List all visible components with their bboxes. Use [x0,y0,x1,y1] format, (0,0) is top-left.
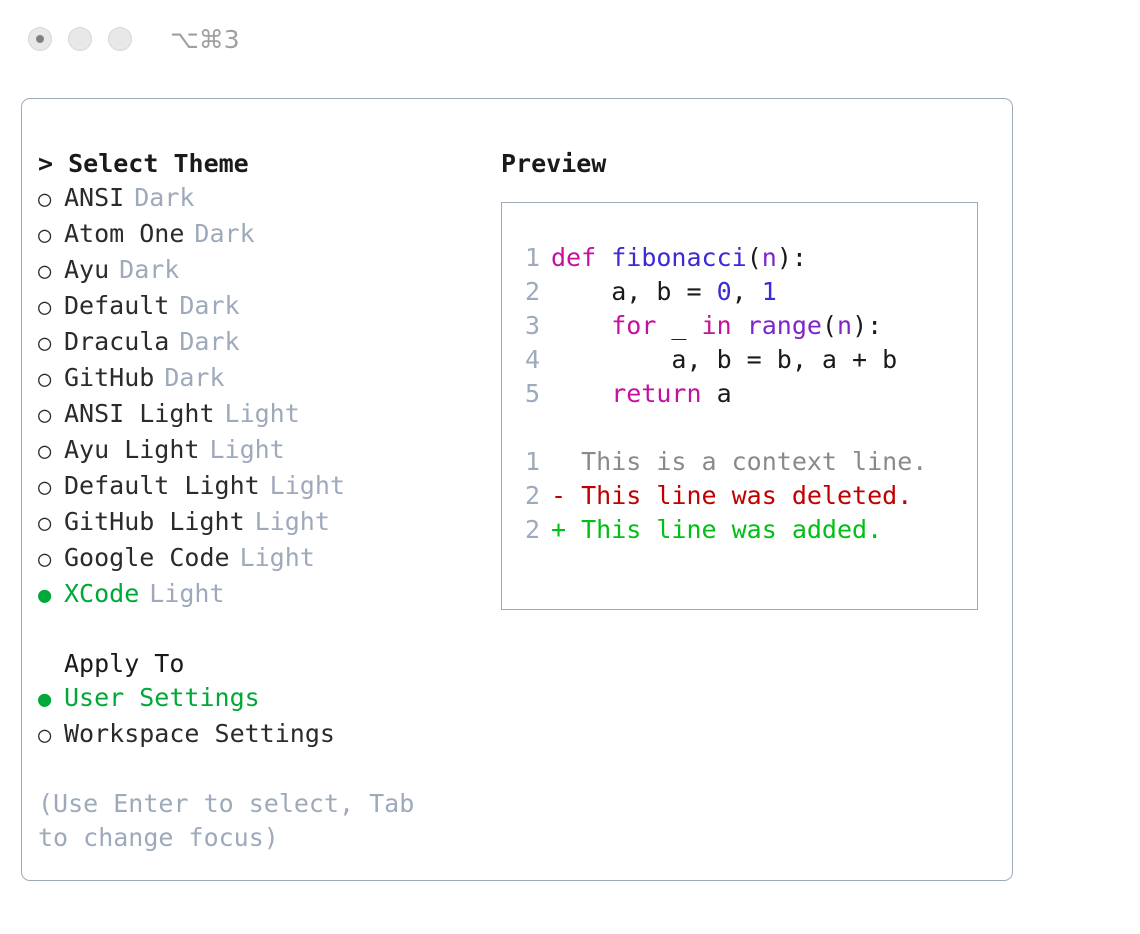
code-token-kw: in [702,311,732,340]
theme-option-badge: Light [209,433,284,467]
radio-unselected-icon: ○ [38,219,64,253]
theme-option-label: Default [64,289,169,323]
theme-option-badge: Light [255,505,330,539]
code-sample: 1def fibonacci(n):2 a, b = 0, 13 for _ i… [516,241,977,411]
radio-unselected-icon: ○ [38,719,64,753]
apply-to-option-user-settings[interactable]: ●User Settings [38,681,498,717]
code-token-param: n [837,311,852,340]
theme-option-label: ANSI Light [64,397,215,431]
traffic-light-3[interactable] [108,27,132,51]
radio-unselected-icon: ○ [38,471,64,505]
theme-option-atom-one[interactable]: ○Atom OneDark [38,217,498,253]
diff-text: This line was deleted. [566,481,912,510]
code-diff-separator [516,411,977,445]
code-line: 3 for _ in range(n): [516,309,977,343]
code-line-number: 4 [516,343,540,377]
preview-heading: Preview [501,147,991,181]
theme-option-label: Atom One [64,217,184,251]
theme-option-badge: Light [240,541,315,575]
code-token-plain [551,379,611,408]
code-token-kw: return [611,379,701,408]
code-token-plain: a [702,379,732,408]
code-token-kw: for [611,311,656,340]
theme-option-badge: Dark [119,253,179,287]
theme-option-ansi[interactable]: ○ANSIDark [38,181,498,217]
traffic-light-active[interactable] [28,27,52,51]
app-window: ⌥⌘3 > Select Theme ○ANSIDark○Atom OneDar… [0,0,1140,934]
code-token-plain [732,311,747,340]
code-token-plain [551,311,611,340]
theme-option-default[interactable]: ○DefaultDark [38,289,498,325]
code-token-plain: a, b = [551,277,717,306]
theme-option-badge: Dark [164,361,224,395]
code-token-num: 0 [717,277,732,306]
theme-option-label: ANSI [64,181,124,215]
radio-unselected-icon: ○ [38,435,64,469]
code-line: 5 return a [516,377,977,411]
code-token-builtin: range [747,311,822,340]
apply-to-heading: Apply To [38,647,498,681]
code-line: 2 a, b = 0, 1 [516,275,977,309]
code-token-fn: fibonacci [611,243,746,272]
diff-line-number: 2 [516,513,540,547]
code-line-number: 1 [516,241,540,275]
code-token-plain: ( [747,243,762,272]
list-spacer [38,613,498,647]
theme-option-label: Ayu [64,253,109,287]
code-token-plain: a, b = b, a + b [551,345,897,374]
apply-to-option-label: User Settings [64,681,260,715]
code-line-number: 2 [516,275,540,309]
theme-option-badge: Dark [134,181,194,215]
radio-selected-icon: ● [38,683,64,717]
titlebar: ⌥⌘3 [0,0,1140,78]
traffic-light-inner-dot [36,35,44,43]
code-token-param: n [762,243,777,272]
keyboard-shortcut-label: ⌥⌘3 [170,25,240,54]
theme-list: ○ANSIDark○Atom OneDark○AyuDark○DefaultDa… [38,181,498,613]
theme-option-default-light[interactable]: ○Default LightLight [38,469,498,505]
diff-line-number: 1 [516,445,540,479]
main-panel: > Select Theme ○ANSIDark○Atom OneDark○Ay… [21,98,1013,881]
code-token-plain: ( [822,311,837,340]
code-line: 1def fibonacci(n): [516,241,977,275]
diff-text: This is a context line. [566,447,927,476]
theme-option-badge: Dark [179,289,239,323]
theme-option-badge: Light [149,577,224,611]
radio-unselected-icon: ○ [38,291,64,325]
theme-option-badge: Dark [179,325,239,359]
code-token-plain: , [732,277,762,306]
theme-option-github[interactable]: ○GitHubDark [38,361,498,397]
radio-unselected-icon: ○ [38,183,64,217]
traffic-light-2[interactable] [68,27,92,51]
apply-to-list: ●User Settings○Workspace Settings [38,681,498,753]
theme-option-badge: Light [225,397,300,431]
code-token-num: 1 [762,277,777,306]
apply-to-option-workspace-settings[interactable]: ○Workspace Settings [38,717,498,753]
diff-line-add: 2+ This line was added. [516,513,977,547]
code-token-plain: ): [852,311,882,340]
code-line: 4 a, b = b, a + b [516,343,977,377]
diff-sign: - [551,481,566,510]
select-theme-heading: > Select Theme [38,147,498,181]
theme-option-label: Dracula [64,325,169,359]
theme-option-label: GitHub [64,361,154,395]
radio-unselected-icon: ○ [38,363,64,397]
radio-unselected-icon: ○ [38,255,64,289]
diff-text: This line was added. [566,515,882,544]
theme-option-badge: Light [270,469,345,503]
theme-option-label: XCode [64,577,139,611]
radio-unselected-icon: ○ [38,543,64,577]
radio-unselected-icon: ○ [38,399,64,433]
diff-line-del: 2- This line was deleted. [516,479,977,513]
radio-unselected-icon: ○ [38,327,64,361]
apply-to-option-label: Workspace Settings [64,717,335,751]
preview-box: 1def fibonacci(n):2 a, b = 0, 13 for _ i… [501,202,978,610]
diff-sample: 1 This is a context line.2- This line wa… [516,445,977,547]
code-token-plain: ): [777,243,807,272]
preview-column: Preview 1def fibonacci(n):2 a, b = 0, 13… [501,147,991,610]
theme-option-badge: Dark [194,217,254,251]
diff-line-number: 2 [516,479,540,513]
diff-sign: + [551,515,566,544]
theme-option-dracula[interactable]: ○DraculaDark [38,325,498,361]
radio-unselected-icon: ○ [38,507,64,541]
code-token-plain: _ [656,311,701,340]
theme-option-github-light[interactable]: ○GitHub LightLight [38,505,498,541]
diff-sign [551,447,566,476]
keyboard-hint-text: (Use Enter to select, Tab to change focu… [38,787,458,855]
radio-selected-icon: ● [38,579,64,613]
code-token-kw: def [551,243,611,272]
code-line-number: 5 [516,377,540,411]
theme-option-ayu-light[interactable]: ○Ayu LightLight [38,433,498,469]
theme-option-ayu[interactable]: ○AyuDark [38,253,498,289]
theme-option-xcode[interactable]: ●XCodeLight [38,577,498,613]
theme-option-label: Default Light [64,469,260,503]
theme-option-label: GitHub Light [64,505,245,539]
theme-option-google-code[interactable]: ○Google CodeLight [38,541,498,577]
theme-option-ansi-light[interactable]: ○ANSI LightLight [38,397,498,433]
theme-option-label: Google Code [64,541,230,575]
diff-line-context: 1 This is a context line. [516,445,977,479]
theme-option-label: Ayu Light [64,433,199,467]
theme-picker-column: > Select Theme ○ANSIDark○Atom OneDark○Ay… [38,147,498,855]
code-line-number: 3 [516,309,540,343]
